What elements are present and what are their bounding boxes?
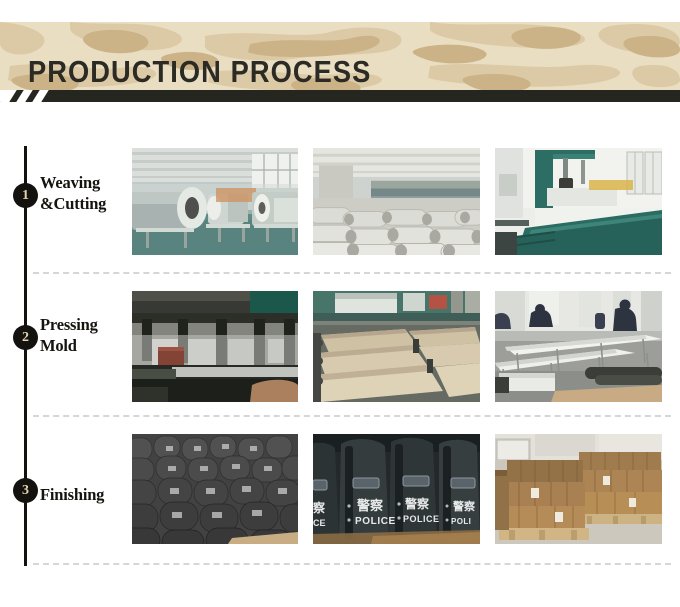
photo-weaving-machines-factory-floor (132, 148, 298, 255)
photo-rolls-of-fabric-stacked-warehouse (313, 148, 480, 255)
stripe-body (0, 90, 680, 102)
photo-workers-at-assembly-tables (495, 291, 662, 402)
photo-green-cutting-machine-table (495, 148, 662, 255)
page-title: PRODUCTION PROCESS (28, 56, 371, 87)
shield-english-text: POLI (451, 517, 471, 526)
photo-stacked-black-ballistic-panels (132, 434, 298, 544)
shield-english-text: POLICE (403, 514, 440, 524)
shield-english-text: POLICE (355, 516, 396, 527)
photo-hydraulic-press-machine (132, 291, 298, 402)
shield-chinese-text: 警察 (452, 499, 476, 513)
process-row-finishing: 警察 警察 警察 察 POLICE POLICE POLI CE (0, 434, 680, 547)
row-divider (33, 415, 671, 417)
process-row-pressing-mold (0, 291, 680, 404)
row-divider (33, 563, 671, 565)
photo-cardboard-boxes-on-pallets (495, 434, 662, 544)
photo-curved-press-molds-rows (313, 291, 480, 402)
row-divider (33, 272, 671, 274)
shield-chinese-text: 警察 (404, 496, 430, 511)
process-row-weaving-cutting (0, 148, 680, 258)
shield-chinese-text: 察 (313, 500, 326, 515)
shield-english-text: CE (313, 518, 326, 528)
header-accent-stripe (0, 90, 680, 102)
photo-police-riot-shields: 警察 警察 警察 察 POLICE POLICE POLI CE (313, 434, 480, 544)
header-banner: PRODUCTION PROCESS (0, 22, 680, 90)
production-process-infographic: PRODUCTION PROCESS 1 2 3 Weaving &Cuttin… (0, 0, 680, 607)
shield-chinese-text: 警察 (357, 498, 384, 513)
